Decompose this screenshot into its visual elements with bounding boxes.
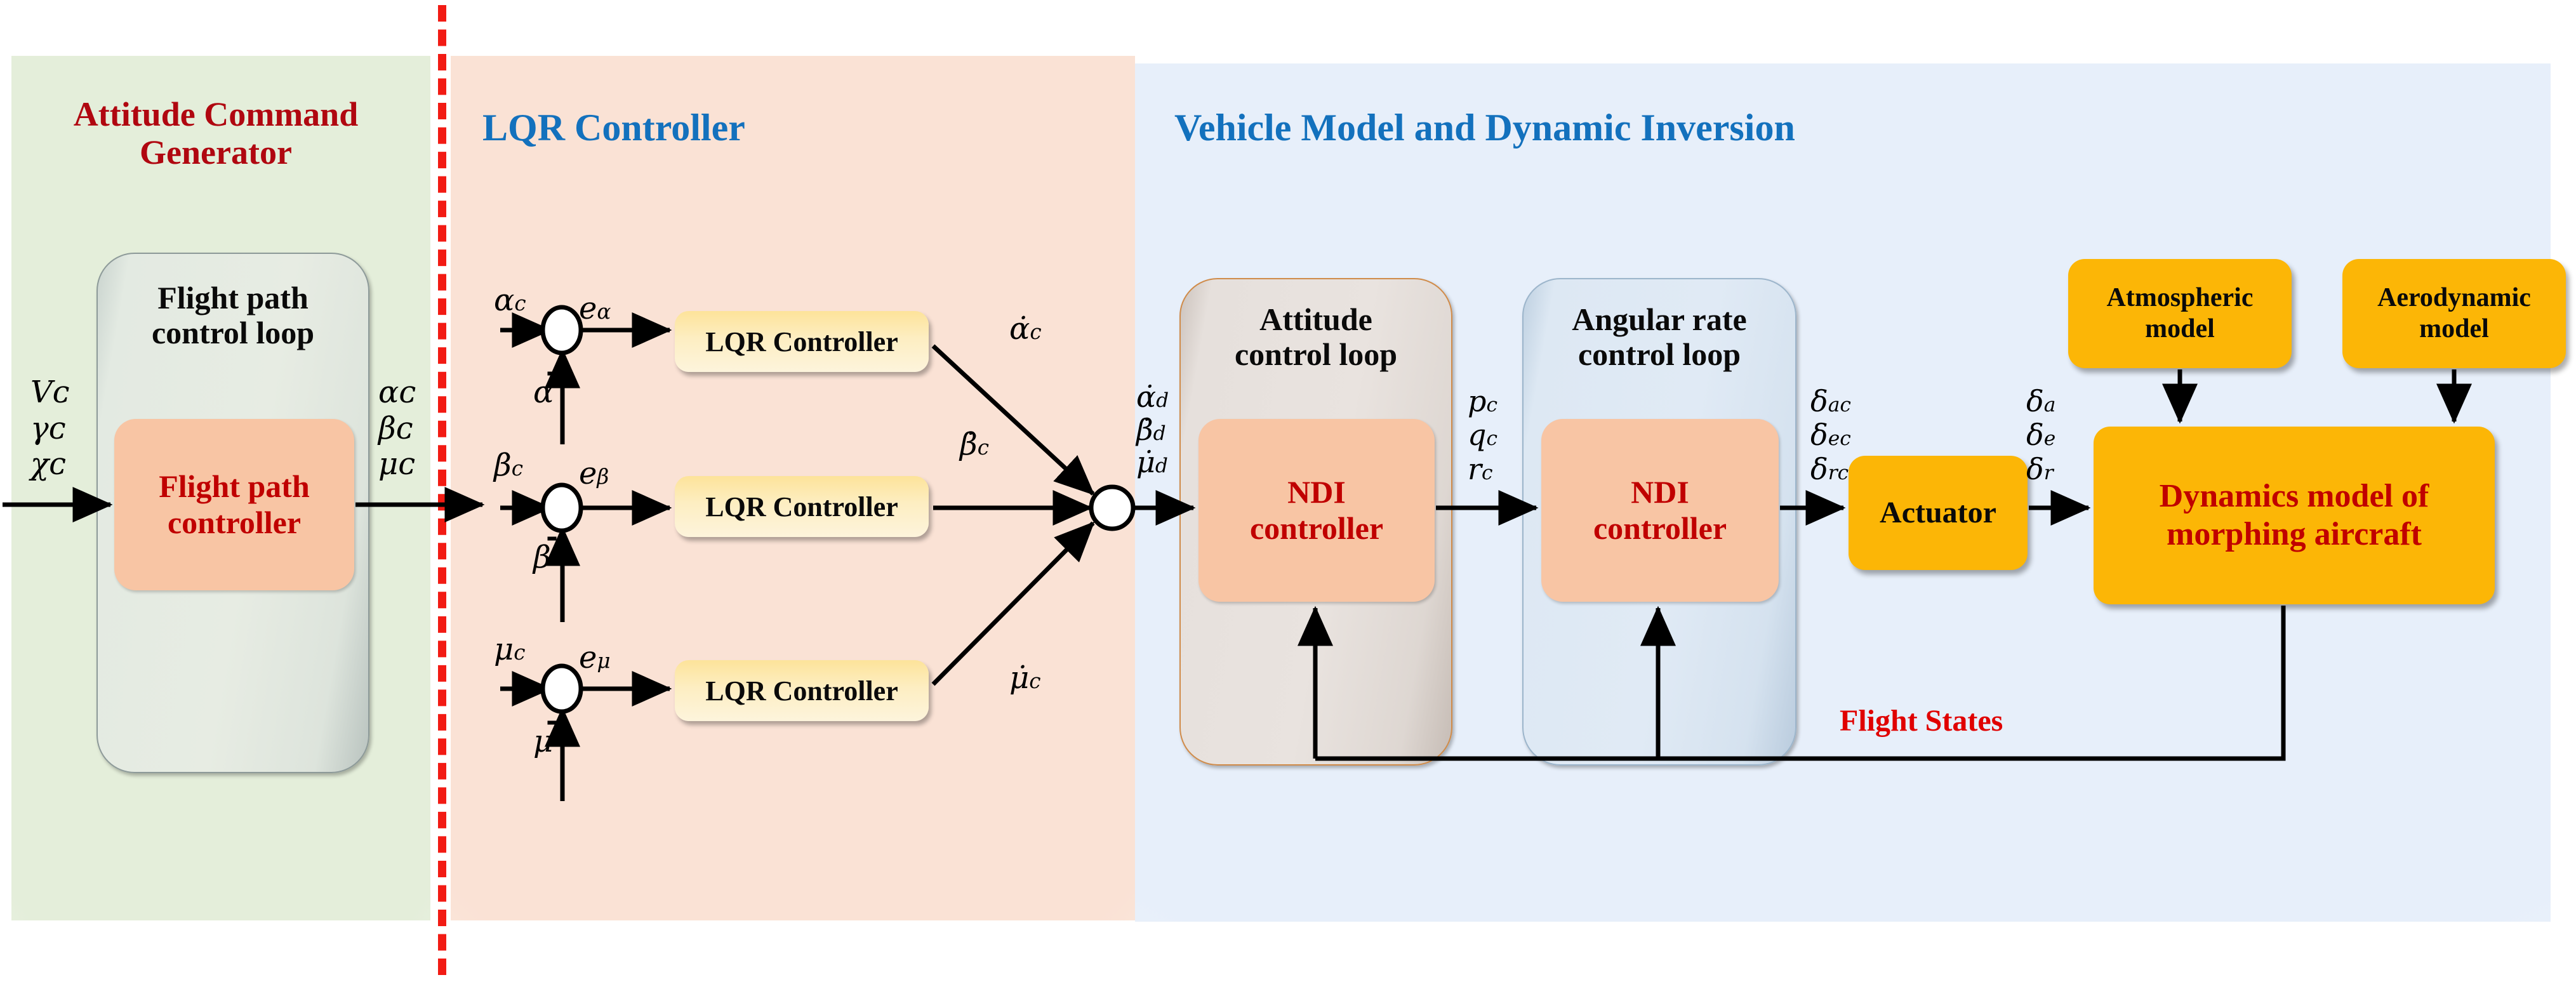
dynamics-model-block[interactable]: Dynamics model of morphing aircraft [2094, 427, 2495, 604]
attitude-command-output-signals-label: αᴄ βᴄ μᴄ [378, 375, 416, 482]
lqr-row-0-output-label: α̇c [1009, 311, 1042, 347]
aerodynamic-model-block[interactable]: Aerodynamic model [2342, 259, 2566, 368]
lqr-row-0-command-label: αc [494, 282, 526, 319]
section-title-attitude-command-generator: Attitude Command Generator [19, 95, 413, 172]
section-divider-dashed-line [438, 5, 446, 975]
lqr-row-1-error-label: eβ [579, 456, 609, 492]
ndi-controller-block-attitude[interactable]: NDI controller [1198, 419, 1435, 602]
lqr-row-1-output-label: β̇c [960, 427, 989, 463]
lqr-row-0-error-label: eα [579, 291, 611, 327]
flight-path-control-loop-title: Flight path control loop [98, 281, 368, 350]
body-rate-command-signals-label: pcqcrc [1468, 385, 1497, 486]
section-title-vehicle-model: Vehicle Model and Dynamic Inversion [1174, 107, 2165, 149]
lqr-controller-block-beta[interactable]: LQR Controller [675, 476, 929, 537]
deflection-signals-label: δaδeδr [2026, 385, 2055, 486]
diagram-canvas: Attitude Command Generator LQR Controlle… [0, 0, 2576, 982]
actuator-block[interactable]: Actuator [1849, 456, 2028, 570]
attitude-control-loop-title: Attitude control loop [1181, 302, 1451, 372]
lqr-controller-block-alpha[interactable]: LQR Controller [675, 311, 929, 372]
lqr-row-0-feedback-label: α [533, 375, 554, 411]
section-title-lqr-controller: LQR Controller [482, 107, 927, 149]
command-deflection-signals-label: δacδecδrc [1810, 385, 1851, 486]
lqr-row-1-feedback-label: β [533, 540, 551, 576]
flight-states-feedback-label: Flight States [1840, 703, 2003, 738]
desired-rate-signals-label: α̇dβ̇dμ̇d [1136, 381, 1169, 479]
lqr-row-1-command-label: βc [494, 448, 523, 484]
ndi-controller-block-angular-rate[interactable]: NDI controller [1541, 419, 1779, 602]
flight-path-controller-block[interactable]: Flight path controller [114, 419, 354, 590]
atmospheric-model-block[interactable]: Atmospheric model [2068, 259, 2292, 368]
lqr-row-2-command-label: μc [494, 632, 525, 668]
lqr-controller-block-mu[interactable]: LQR Controller [675, 660, 929, 721]
lqr-row-2-error-label: eμ [579, 640, 611, 676]
angular-rate-control-loop-title: Angular rate control loop [1524, 302, 1795, 372]
lqr-row-2-output-label: μ̇c [1009, 660, 1040, 696]
lqr-row-2-feedback-label: μ [533, 724, 553, 760]
input-signals-label: Vᴄ γᴄ χᴄ [30, 375, 70, 482]
